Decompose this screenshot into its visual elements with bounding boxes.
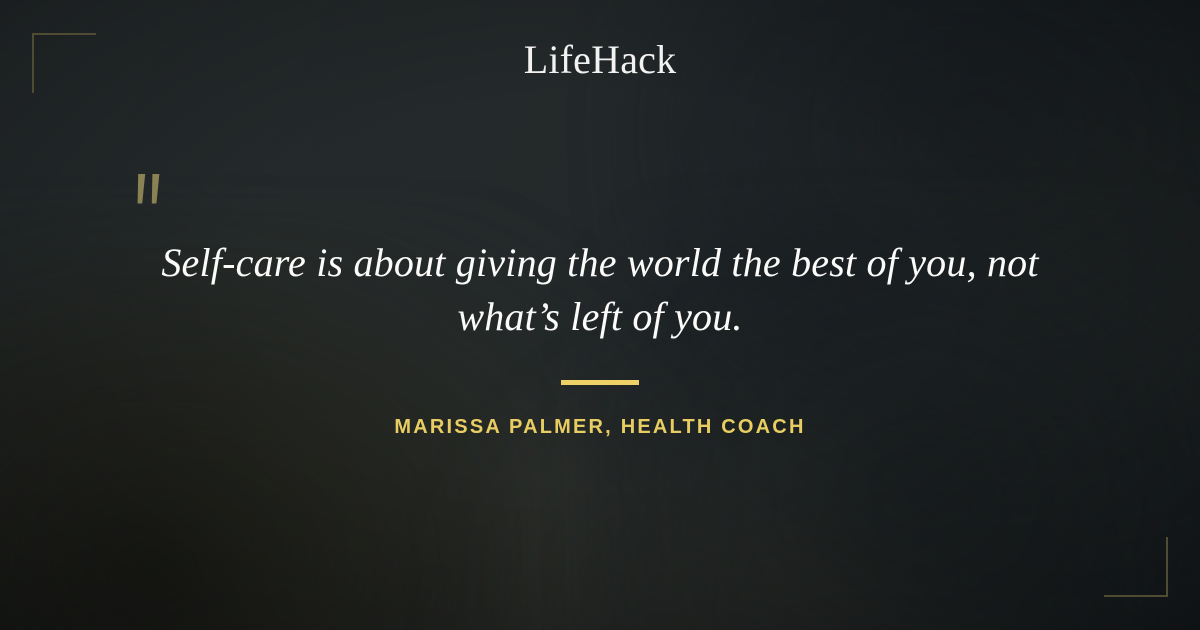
corner-bracket-bottom-right-vertical [1166, 537, 1168, 597]
lifehack-logo: LifeHack [0, 36, 1200, 84]
quote-line-1: Self-care is about giving the world the … [130, 236, 1070, 290]
quote-line-2: what’s left of you. [130, 290, 1070, 344]
corner-bracket-bottom-right [1104, 537, 1168, 597]
quote-attribution: MARISSA PALMER, HEALTH COACH [0, 413, 1200, 441]
quote-card: LifeHack Self-care is about giving the w… [0, 0, 1200, 630]
quote-block: Self-care is about giving the world the … [0, 236, 1200, 344]
corner-bracket-bottom-right-horizontal [1104, 595, 1168, 597]
gold-divider [561, 380, 639, 385]
corner-bracket-top-left-horizontal [32, 33, 96, 35]
double-quote-icon [132, 172, 176, 216]
